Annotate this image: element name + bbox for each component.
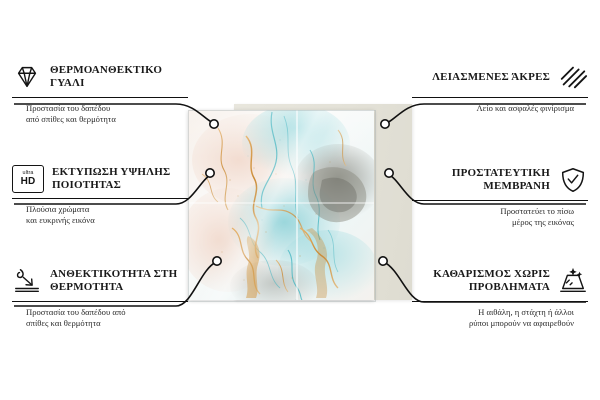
- feature-title: ΕΚΤΥΠΩΣΗ ΥΨΗΛΗΣ ΠΟΙΟΤΗΤΑΣ: [52, 166, 188, 192]
- divider: [12, 198, 188, 199]
- feature-easy-cleaning: ΚΑΘΑΡΙΣΜΟΣ ΧΩΡΙΣ ΠΡΟΒΛΗΜΑΤΑ Η αιθάλη, η …: [412, 266, 588, 329]
- feature-description: Προστατεύει το πίσω μέρος της εικόνας: [412, 206, 588, 228]
- glass-panel: [188, 110, 374, 300]
- feature-title: ΑΝΘΕΚΤΙΚΟΤΗΤΑ ΣΤΗ ΘΕΡΜΟΤΗΤΑ: [50, 268, 188, 294]
- infographic-stage: ΘΕΡΜΟΑΝΘΕΚΤΙΚΟ ΓΥΑΛΙ Προστασία του δαπέδ…: [0, 0, 600, 400]
- feature-description: Πλούσια χρώματα και ευκρινής εικόνα: [12, 204, 188, 226]
- feature-polished-edges: ΛΕΙΑΣΜΕΝΕΣ ΆΚΡΕΣ Λείο και ασφαλές φινίρι…: [412, 62, 588, 114]
- product-image: [178, 106, 414, 304]
- feature-description: Λείο και ασφαλές φινίρισμα: [412, 103, 588, 114]
- feature-header: ΛΕΙΑΣΜΕΝΕΣ ΆΚΡΕΣ: [412, 62, 588, 92]
- feature-title: ΠΡΟΣΤΑΤΕΥΤΙΚΗ ΜΕΜΒΡΑΝΗ: [412, 167, 550, 193]
- feature-description: Προστασία του δαπέδου από σπίθες και θερ…: [12, 307, 188, 329]
- feature-header: ΚΑΘΑΡΙΣΜΟΣ ΧΩΡΙΣ ΠΡΟΒΛΗΜΑΤΑ: [412, 266, 588, 296]
- feature-header: ΘΕΡΜΟΑΝΘΕΚΤΙΚΟ ΓΥΑΛΙ: [12, 62, 188, 92]
- divider: [412, 200, 588, 201]
- cleaning-sparkle-icon: [558, 266, 588, 296]
- feature-title: ΚΑΘΑΡΙΣΜΟΣ ΧΩΡΙΣ ΠΡΟΒΛΗΜΑΤΑ: [412, 268, 550, 294]
- flame-heat-resistance-icon: [12, 266, 42, 296]
- marble-artwork: [188, 110, 374, 300]
- shield-check-icon: [558, 165, 588, 195]
- feature-description: Η αιθάλη, η στάχτη ή άλλοι ρύποι μπορούν…: [412, 307, 588, 329]
- feature-header: ΠΡΟΣΤΑΤΕΥΤΙΚΗ ΜΕΜΒΡΑΝΗ: [412, 165, 588, 195]
- feature-protective-membrane: ΠΡΟΣΤΑΤΕΥΤΙΚΗ ΜΕΜΒΡΑΝΗ Προστατεύει το πί…: [412, 165, 588, 228]
- ultra-hd-badge-icon: ultra HD: [12, 165, 44, 193]
- feature-description: Προστασία του δαπέδου από σπίθες και θερ…: [12, 103, 188, 125]
- feature-title: ΛΕΙΑΣΜΕΝΕΣ ΆΚΡΕΣ: [432, 71, 550, 84]
- feature-high-quality-print: ultra HD ΕΚΤΥΠΩΣΗ ΥΨΗΛΗΣ ΠΟΙΟΤΗΤΑΣ Πλούσ…: [12, 165, 188, 226]
- feature-title: ΘΕΡΜΟΑΝΘΕΚΤΙΚΟ ΓΥΑΛΙ: [50, 64, 188, 90]
- feature-header: ΑΝΘΕΚΤΙΚΟΤΗΤΑ ΣΤΗ ΘΕΡΜΟΤΗΤΑ: [12, 266, 188, 296]
- divider: [412, 97, 588, 98]
- divider: [12, 97, 188, 98]
- feature-heat-resistant-glass: ΘΕΡΜΟΑΝΘΕΚΤΙΚΟ ΓΥΑΛΙ Προστασία του δαπέδ…: [12, 62, 188, 125]
- ultra-hd-bottom-label: HD: [21, 177, 36, 187]
- feature-header: ultra HD ΕΚΤΥΠΩΣΗ ΥΨΗΛΗΣ ΠΟΙΟΤΗΤΑΣ: [12, 165, 188, 193]
- feature-heat-durability: ΑΝΘΕΚΤΙΚΟΤΗΤΑ ΣΤΗ ΘΕΡΜΟΤΗΤΑ Προστασία το…: [12, 266, 188, 329]
- divider: [412, 301, 588, 302]
- polished-edges-icon: [558, 62, 588, 92]
- diamond-icon: [12, 62, 42, 92]
- divider: [12, 301, 188, 302]
